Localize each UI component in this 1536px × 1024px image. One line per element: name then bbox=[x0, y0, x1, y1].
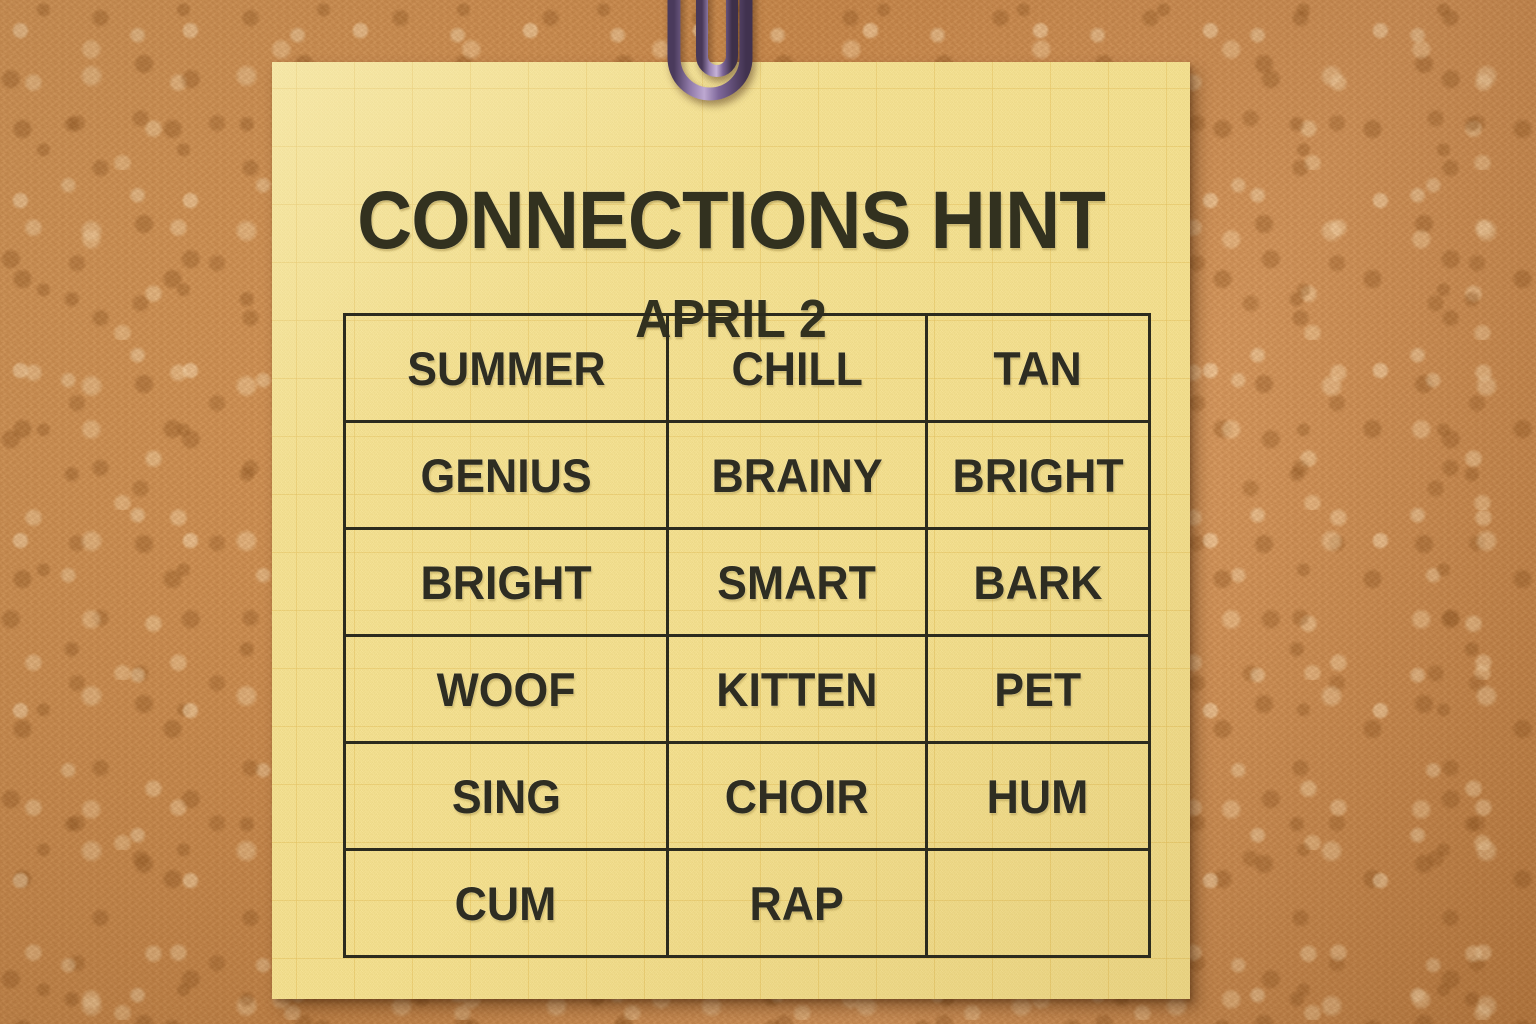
table-row: CUM RAP bbox=[345, 850, 1150, 957]
word-cell-r2c1: GENIUS bbox=[345, 422, 668, 529]
word-cell-r2c2: BRAINY bbox=[668, 422, 927, 529]
word-cell-r4c2: KITTEN bbox=[668, 636, 927, 743]
word-cell-r1c2: CHILL bbox=[668, 315, 927, 422]
word-cell-r5c2: CHOIR bbox=[668, 743, 927, 850]
word-cell-label: BRIGHT bbox=[420, 555, 591, 610]
word-cell-r6c3-empty bbox=[927, 850, 1150, 957]
word-cell-r5c1: SING bbox=[345, 743, 668, 850]
page-title: CONNECTIONS HINT bbox=[304, 180, 1158, 262]
word-cell-r3c1: BRIGHT bbox=[345, 529, 668, 636]
word-cell-label: CHOIR bbox=[725, 769, 869, 824]
word-cell-label: SING bbox=[451, 769, 560, 824]
word-cell-label: CHILL bbox=[731, 341, 862, 396]
word-cell-r5c3: HUM bbox=[927, 743, 1150, 850]
word-cell-label: BRIGHT bbox=[952, 448, 1123, 503]
table-row: BRIGHT SMART BARK bbox=[345, 529, 1150, 636]
table-row: GENIUS BRAINY BRIGHT bbox=[345, 422, 1150, 529]
word-cell-r3c3: BARK bbox=[927, 529, 1150, 636]
word-cell-r2c3: BRIGHT bbox=[927, 422, 1150, 529]
word-cell-r6c2: RAP bbox=[668, 850, 927, 957]
word-cell-label: TAN bbox=[994, 341, 1082, 396]
screenshot-stage: CONNECTIONS HINT APRIL 2 SUMMER CHILL TA… bbox=[0, 0, 1536, 1024]
word-cell-r1c3: TAN bbox=[927, 315, 1150, 422]
table-row: WOOF KITTEN PET bbox=[345, 636, 1150, 743]
table-row: SING CHOIR HUM bbox=[345, 743, 1150, 850]
word-cell-r4c3: PET bbox=[927, 636, 1150, 743]
word-cell-r3c2: SMART bbox=[668, 529, 927, 636]
word-cell-r1c1: SUMMER bbox=[345, 315, 668, 422]
word-cell-label: BRAINY bbox=[711, 448, 882, 503]
word-grid-table: SUMMER CHILL TAN GENIUS BRAINY BRIGHT BR… bbox=[343, 313, 1151, 958]
paperclip-icon bbox=[660, 0, 784, 116]
word-cell-label: SUMMER bbox=[407, 341, 605, 396]
word-cell-label: KITTEN bbox=[716, 662, 877, 717]
word-cell-label: RAP bbox=[750, 876, 844, 931]
word-cell-label: CUM bbox=[455, 876, 557, 931]
word-cell-r6c1: CUM bbox=[345, 850, 668, 957]
word-cell-label: SMART bbox=[718, 555, 877, 610]
word-cell-label: WOOF bbox=[437, 662, 576, 717]
sticky-note: CONNECTIONS HINT APRIL 2 SUMMER CHILL TA… bbox=[272, 62, 1190, 999]
word-cell-r4c1: WOOF bbox=[345, 636, 668, 743]
word-cell-label: HUM bbox=[987, 769, 1089, 824]
word-grid-body: SUMMER CHILL TAN GENIUS BRAINY BRIGHT BR… bbox=[345, 315, 1150, 957]
table-row: SUMMER CHILL TAN bbox=[345, 315, 1150, 422]
word-cell-label: BARK bbox=[974, 555, 1103, 610]
word-cell-label: GENIUS bbox=[420, 448, 591, 503]
word-cell-label: PET bbox=[995, 662, 1082, 717]
